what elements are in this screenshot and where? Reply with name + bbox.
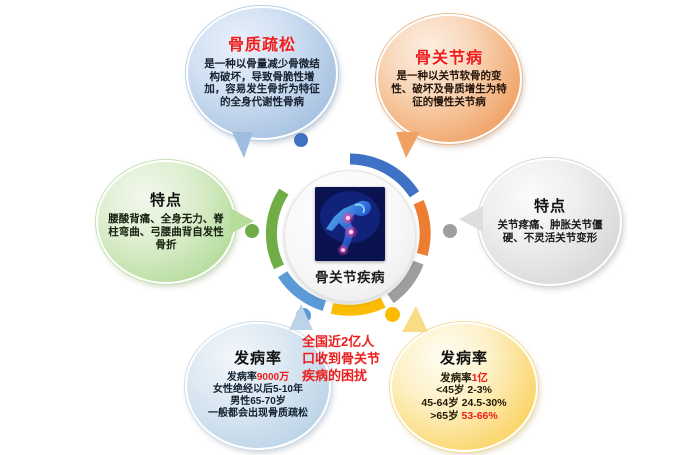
infographic-canvas: 骨关节疾病 骨质疏松 是一种以骨量减少骨微结构破坏，导致骨脆性增加，容易发生骨折…: [0, 0, 700, 455]
ring-segment-yellow: [332, 303, 383, 311]
bubble-body: 发病率1亿<45岁 2-3%45-64岁 24.5-30%>65岁 53-66%: [396, 372, 532, 423]
bubble-body-line: 一般都会出现骨质疏松: [191, 408, 325, 420]
bubble-osteoarthropathy: 骨关节病 是一种以关节软骨的变性、破坏及骨质增生为特征的慢性关节病: [376, 14, 522, 144]
bubble-title: 特点: [534, 199, 566, 216]
highlight-value: 53-66%: [462, 410, 498, 422]
bubble-tail: [396, 132, 420, 158]
bubble-body-line: <45岁 2-3%: [396, 384, 532, 397]
bubble-title: 发病率: [440, 351, 488, 368]
ring-segment-green: [271, 192, 283, 267]
bubble-title: 骨质疏松: [228, 37, 296, 55]
bubble-body-line: >65岁 53-66%: [396, 410, 532, 423]
bubble-title: 骨关节病: [415, 50, 483, 68]
bubble-tail: [289, 304, 313, 330]
bubble-tail: [459, 206, 483, 232]
national-statistic-callout: 全国近2亿人口收到骨关节疾病的困扰: [302, 334, 386, 385]
bubble-body-line: 发病率1亿: [396, 372, 532, 385]
bubble-body: 腰酸背痛、全身无力、脊柱弯曲、弓腰曲背自发性骨折: [106, 213, 226, 251]
dot-gray-icon: [443, 224, 457, 238]
bubble-body: 是一种以关节软骨的变性、破坏及骨质增生为特征的慢性关节病: [391, 70, 507, 108]
bubble-body: 是一种以骨量减少骨微结构破坏，导致骨脆性增加，容易发生骨折为特征的全身代谢性骨病: [202, 58, 322, 109]
bubble-tail: [232, 132, 253, 158]
bubble-tail: [402, 306, 428, 332]
bubble-tail: [230, 208, 254, 234]
bubble-body-line: 45-64岁 24.5-30%: [396, 397, 532, 410]
bubble-body-line: 女性绝经以后5-10年: [191, 384, 325, 396]
bubble-features-arthropathy: 特点 关节疼痛、肿胀关节僵硬、不灵活关节变形: [478, 158, 622, 286]
bubble-features-osteoporosis: 特点 腰酸背痛、全身无力、脊柱弯曲、弓腰曲背自发性骨折: [96, 160, 236, 284]
highlight-value: 1亿: [472, 372, 488, 384]
center-label: 骨关节疾病: [315, 266, 385, 286]
center-hub: 骨关节疾病: [262, 148, 438, 324]
center-disc: 骨关节疾病: [284, 170, 416, 302]
highlight-value: 9000万: [257, 372, 289, 383]
bubble-osteoporosis: 骨质疏松 是一种以骨量减少骨微结构破坏，导致骨脆性增加，容易发生骨折为特征的全身…: [186, 6, 338, 140]
bubble-title: 发病率: [234, 351, 282, 368]
dot-blue-icon: [294, 133, 308, 147]
bubble-title: 特点: [150, 193, 182, 210]
bubble-body: 关节疼痛、肿胀关节僵硬、不灵活关节变形: [488, 219, 612, 245]
bubble-incidence-arthropathy: 发病率 发病率1亿<45岁 2-3%45-64岁 24.5-30%>65岁 53…: [390, 322, 538, 452]
human-skeleton-pain-figure-icon: [315, 187, 385, 261]
ring-segment-orange: [419, 202, 426, 254]
bubble-body-line: 男性65-70岁: [191, 396, 325, 408]
dot-yellow-icon: [385, 307, 400, 322]
